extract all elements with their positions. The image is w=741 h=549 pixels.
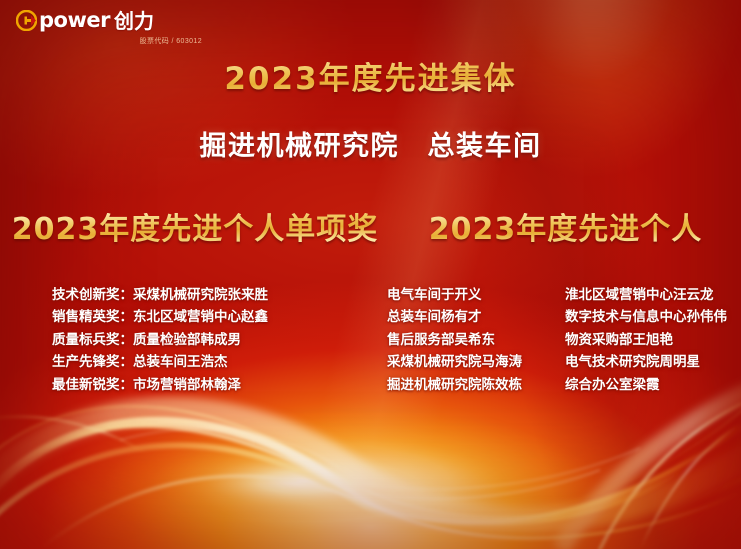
name-cell: 采煤机械研究院马海涛 bbox=[387, 351, 565, 373]
list-item: 总装车间杨有才 数字技术与信息中心孙伟伟 bbox=[387, 306, 741, 328]
name-cell: 售后服务部吴希东 bbox=[387, 329, 565, 351]
name-cell: 数字技术与信息中心孙伟伟 bbox=[565, 306, 727, 328]
name-cell: 淮北区域营销中心汪云龙 bbox=[565, 284, 714, 306]
logo-brand-latin: power bbox=[39, 10, 110, 31]
logo-brand-chinese: 创力 bbox=[114, 11, 154, 31]
heading-advanced-individuals: 2023年度先进个人 bbox=[390, 213, 741, 248]
list-item: 技术创新奖：采煤机械研究院张来胜 bbox=[52, 284, 375, 306]
heading-individual-special-awards: 2023年度先进个人单项奖 bbox=[0, 213, 390, 248]
award-lists: 技术创新奖：采煤机械研究院张来胜 销售精英奖：东北区域营销中心赵鑫 质量标兵奖：… bbox=[0, 284, 741, 396]
name-cell: 掘进机械研究院陈效栋 bbox=[387, 374, 565, 396]
name-cell: 综合办公室梁霞 bbox=[565, 374, 660, 396]
list-item: 电气车间于开义 淮北区域营销中心汪云龙 bbox=[387, 284, 741, 306]
name-cell: 电气技术研究院周明星 bbox=[565, 351, 700, 373]
name-cell: 总装车间杨有才 bbox=[387, 306, 565, 328]
name-cell: 物资采购部王旭艳 bbox=[565, 329, 673, 351]
award-poster: power 创力 股票代码 / 603012 2023年度先进集体 掘进机械研究… bbox=[0, 0, 741, 549]
list-item: 质量标兵奖：质量检验部韩成男 bbox=[52, 329, 375, 351]
section-headings-row: 2023年度先进个人单项奖 2023年度先进个人 bbox=[0, 213, 741, 248]
brand-logo[interactable]: power 创力 股票代码 / 603012 bbox=[16, 10, 226, 46]
list-item: 采煤机械研究院马海涛 电气技术研究院周明星 bbox=[387, 351, 741, 373]
name-cell: 电气车间于开义 bbox=[387, 284, 565, 306]
page-title: 2023年度先进集体 bbox=[0, 62, 741, 96]
list-item: 销售精英奖：东北区域营销中心赵鑫 bbox=[52, 306, 375, 328]
list-item: 掘进机械研究院陈效栋 综合办公室梁霞 bbox=[387, 374, 741, 396]
c-power-logo-mark-icon bbox=[16, 10, 37, 31]
list-item: 最佳新锐奖：市场营销部林翰泽 bbox=[52, 374, 375, 396]
special-awards-list: 技术创新奖：采煤机械研究院张来胜 销售精英奖：东北区域营销中心赵鑫 质量标兵奖：… bbox=[0, 284, 375, 396]
page-subtitle: 掘进机械研究院 总装车间 bbox=[0, 132, 741, 162]
logo-stock-code: 股票代码 / 603012 bbox=[16, 36, 226, 46]
list-item: 生产先锋奖：总装车间王浩杰 bbox=[52, 351, 375, 373]
list-item: 售后服务部吴希东 物资采购部王旭艳 bbox=[387, 329, 741, 351]
advanced-individuals-list: 电气车间于开义 淮北区域营销中心汪云龙 总装车间杨有才 数字技术与信息中心孙伟伟… bbox=[375, 284, 741, 396]
